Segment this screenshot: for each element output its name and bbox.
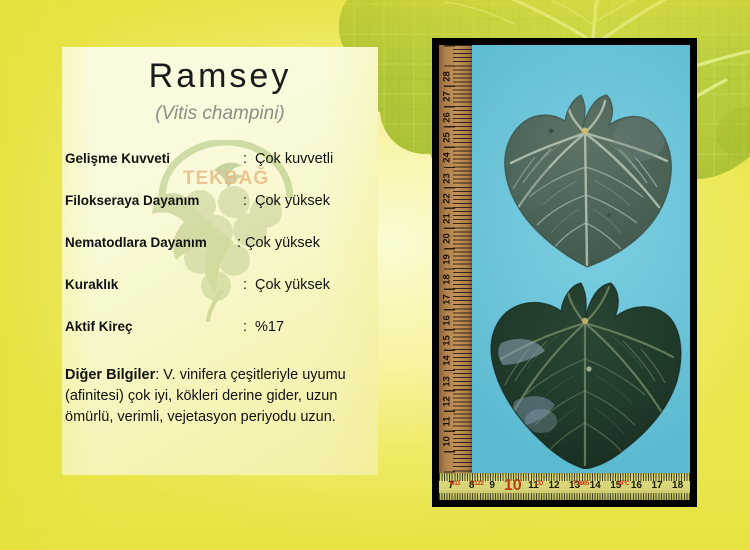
property-value: Çok yüksek [245, 235, 320, 251]
horizontal-ruler-number: 9 [489, 480, 495, 491]
slide-root: TEKBAĞ Ramsey (Vitis champini) Gelişme K… [0, 0, 750, 550]
horizontal-ruler-bottom-ticks [439, 493, 690, 500]
leaf-specimen-upper [491, 87, 679, 269]
vertical-ruler-number: 19 [442, 251, 453, 267]
vertical-ruler-number: 15 [442, 332, 453, 348]
vertical-ruler-number: 26 [442, 109, 453, 125]
property-label: Filokseraya Dayanım [65, 193, 199, 208]
vertical-ruler-minor-ticks [453, 45, 472, 500]
horizontal-ruler-number: 12 [548, 480, 559, 491]
horizontal-ruler-number: 16 [631, 480, 642, 491]
vertical-ruler-number: 20 [442, 231, 453, 247]
horizontal-ruler: 789101112131415161718M11R122CDT186528°C [439, 473, 690, 500]
horizontal-ruler-number: 17 [651, 480, 662, 491]
property-colon: : [243, 151, 247, 167]
property-colon: : [243, 319, 247, 335]
vertical-ruler-number: 12 [442, 393, 453, 409]
property-label: Kuraklık [65, 277, 118, 292]
card-content: Ramsey (Vitis champini) Gelişme Kuvveti … [62, 47, 378, 475]
property-list: Gelişme Kuvveti : Çok kuvvetli Filoksera… [65, 151, 378, 361]
other-information-label: Diğer Bilgiler [65, 367, 155, 383]
property-label: Nematodlara Dayanım [65, 235, 207, 250]
vertical-ruler-number: 27 [442, 89, 453, 105]
vertical-ruler-number: 25 [442, 129, 453, 145]
property-value: Çok yüksek [255, 193, 330, 209]
vertical-ruler-number: 11 [442, 414, 453, 430]
property-colon: : [237, 235, 241, 251]
leaf-photograph: 28272625242322212019181716151413121110 7… [439, 45, 690, 500]
property-value: Çok kuvvetli [255, 151, 333, 167]
vertical-ruler-number: 18 [442, 272, 453, 288]
property-colon: : [243, 277, 247, 293]
scientific-name: (Vitis champini) [62, 103, 378, 125]
vertical-ruler-number: 17 [442, 292, 453, 308]
vertical-ruler-number: 22 [442, 190, 453, 206]
horizontal-ruler-mark: M11 [450, 481, 461, 487]
vertical-ruler-number: 23 [442, 170, 453, 186]
horizontal-ruler-number: 18 [672, 480, 683, 491]
page-title: Ramsey [62, 57, 378, 96]
property-label: Aktif Kireç [65, 319, 133, 334]
vertical-ruler-number: 14 [442, 353, 453, 369]
vertical-ruler-number: 10 [442, 434, 453, 450]
vertical-ruler: 28272625242322212019181716151413121110 [439, 45, 472, 500]
property-row-nematode-resistance: Nematodlara Dayanım : Çok yüksek [65, 235, 378, 277]
vertical-ruler-number: 24 [442, 150, 453, 166]
property-label: Gelişme Kuvveti [65, 151, 170, 166]
property-colon: : [243, 193, 247, 209]
horizontal-ruler-numbers: 789101112131415161718M11R122CDT186528°C [439, 480, 690, 494]
leaf-photograph-frame: 28272625242322212019181716151413121110 7… [432, 38, 697, 507]
vertical-ruler-number: 13 [442, 373, 453, 389]
vertical-ruler-number: 16 [442, 312, 453, 328]
horizontal-ruler-mark: R122 [470, 481, 484, 487]
vertical-ruler-numbers: 28272625242322212019181716151413121110 [439, 45, 455, 500]
other-information: Diğer Bilgiler: V. vinifera çeşitleriyle… [65, 365, 365, 428]
property-row-active-lime: Aktif Kireç : %17 [65, 319, 378, 361]
vertical-ruler-number: 28 [442, 69, 453, 85]
property-row-phylloxera-resistance: Filokseraya Dayanım : Çok yüksek [65, 193, 378, 235]
vertical-ruler-number: 21 [442, 211, 453, 227]
horizontal-ruler-mark: 28°C [617, 481, 630, 487]
horizontal-ruler-number: 14 [590, 480, 601, 491]
leaf-specimen-lower [485, 273, 685, 469]
property-row-growth-vigor: Gelişme Kuvveti : Çok kuvvetli [65, 151, 378, 193]
property-value: %17 [255, 319, 284, 335]
horizontal-ruler-mark: T1865 [573, 481, 589, 487]
horizontal-ruler-mark: CD [535, 481, 543, 487]
property-value: Çok yüksek [255, 277, 330, 293]
property-row-drought: Kuraklık : Çok yüksek [65, 277, 378, 319]
